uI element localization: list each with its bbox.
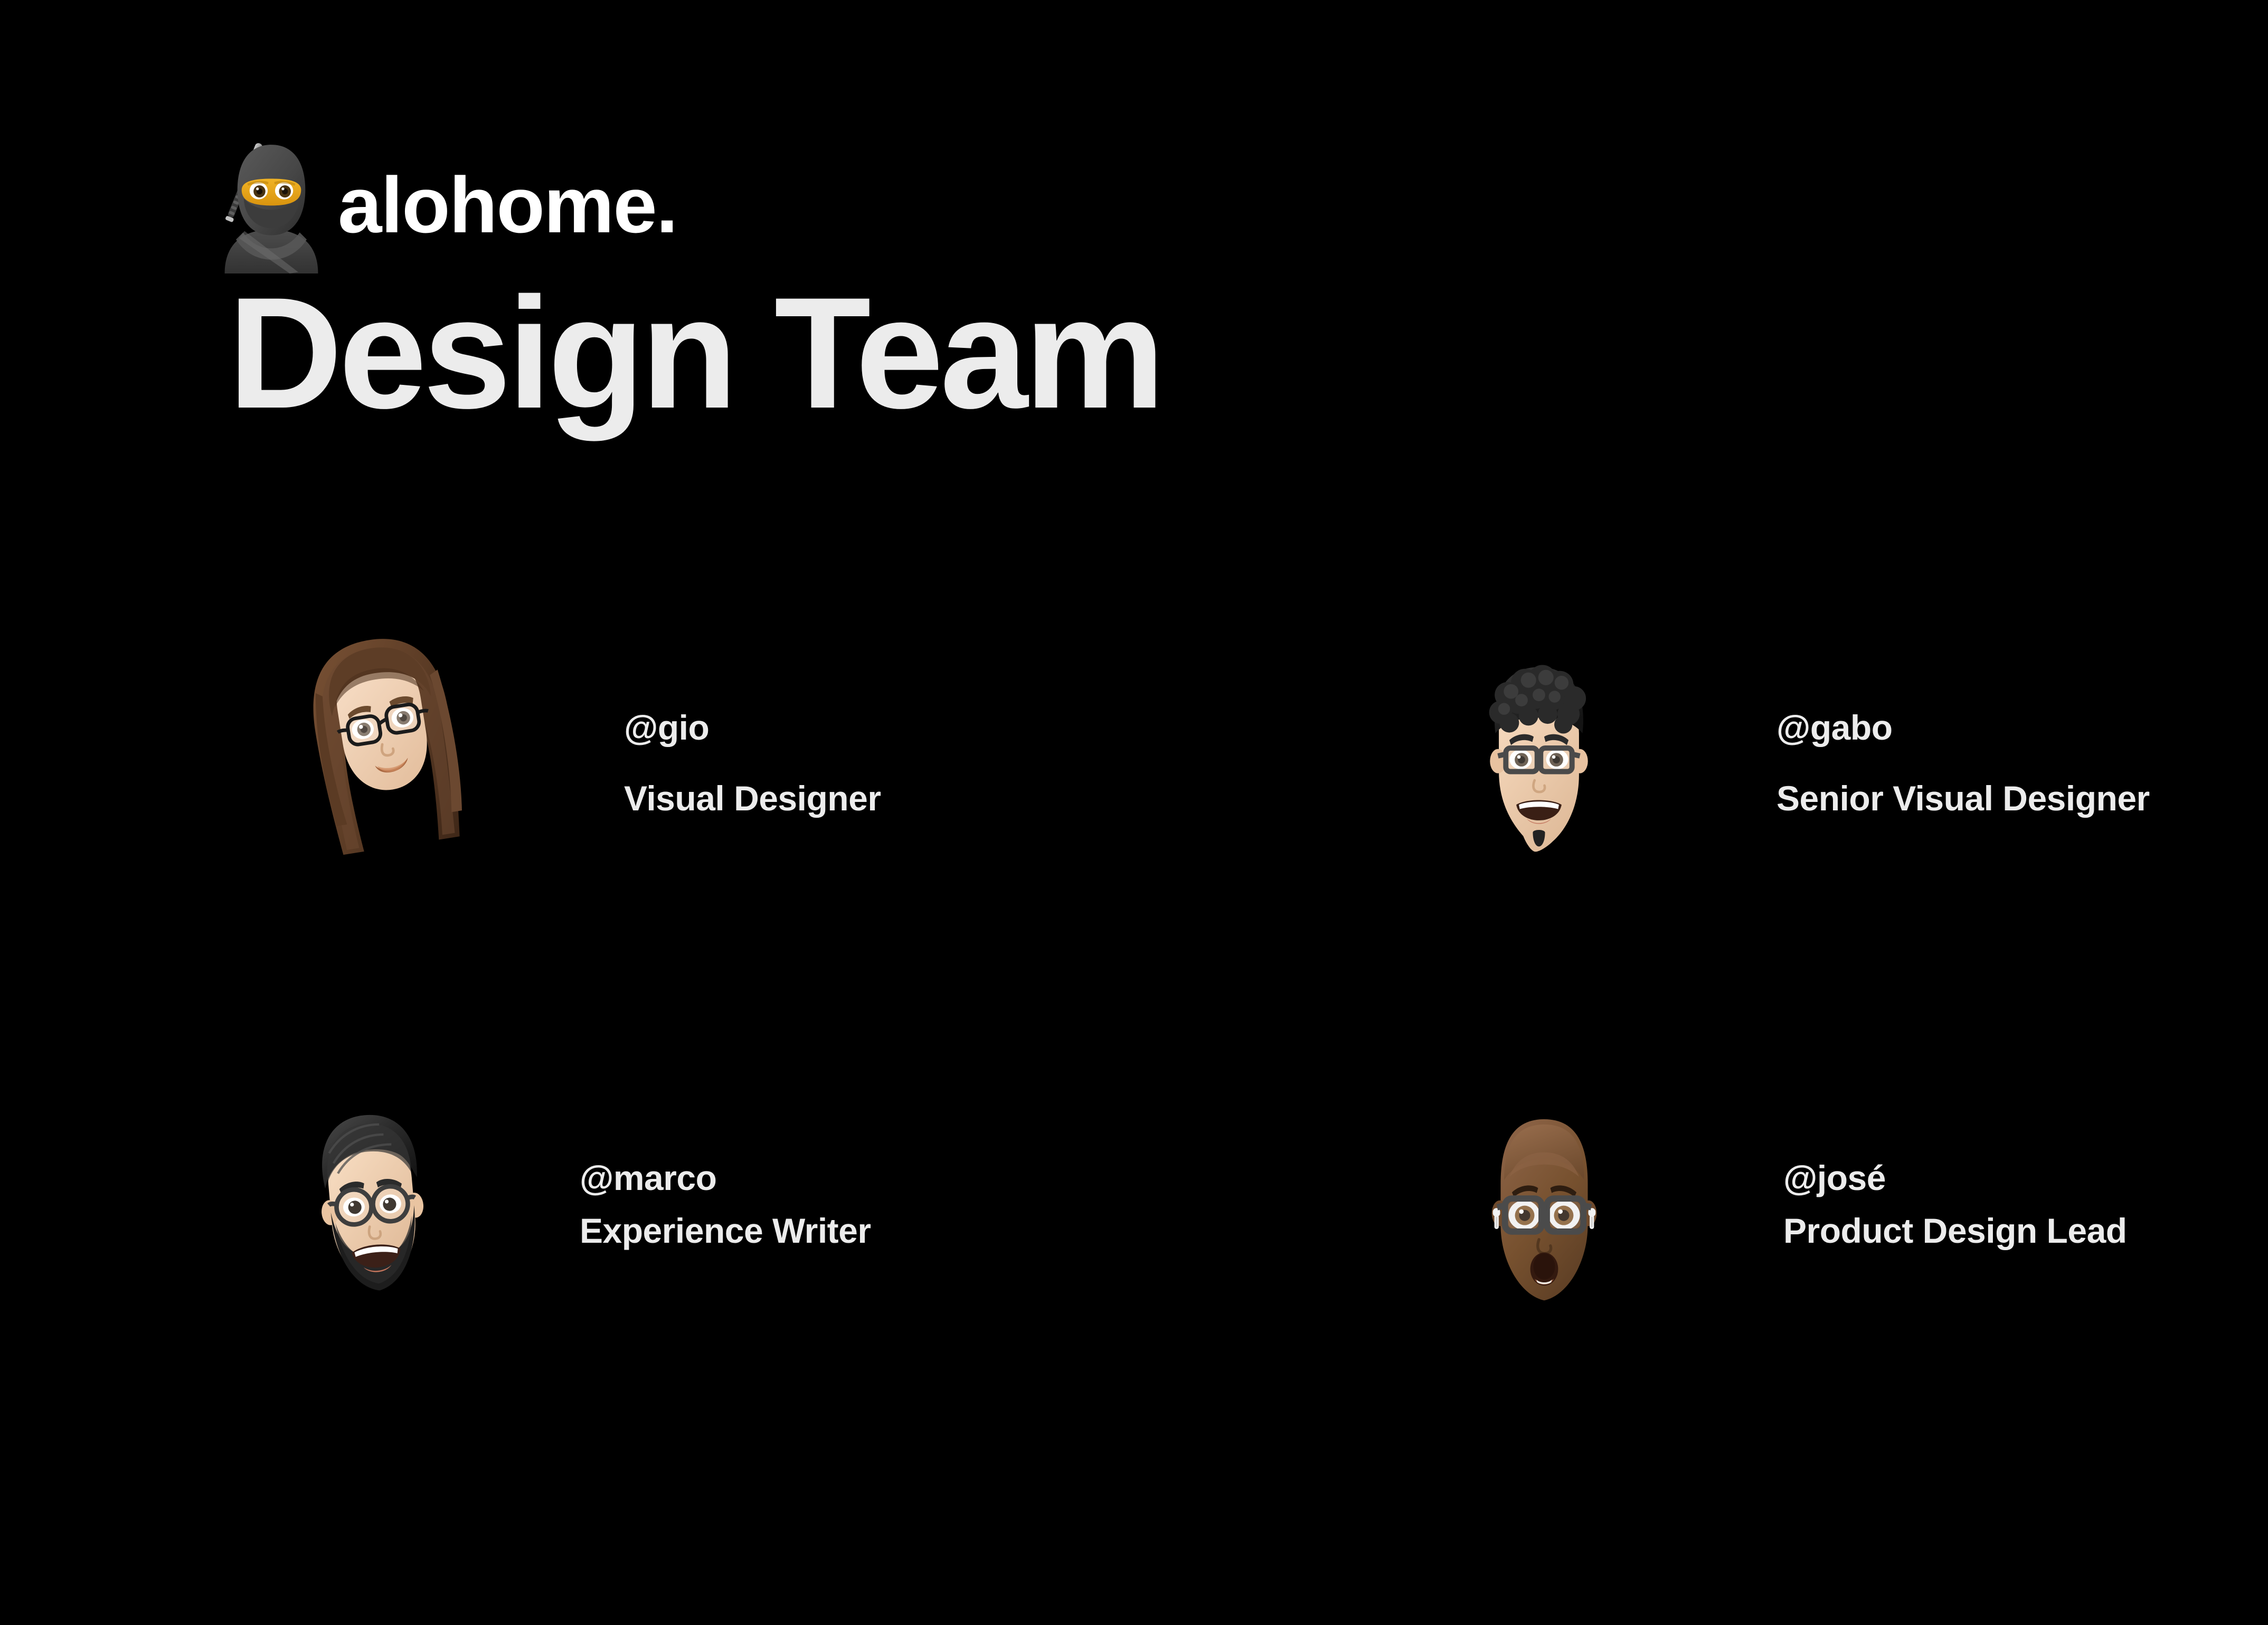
member-role: Visual Designer (624, 781, 881, 816)
team-member-card[interactable]: @gabo Senior Visual Designer (1420, 628, 2268, 1098)
member-text: @gabo Senior Visual Designer (1776, 628, 2150, 816)
member-role: Senior Visual Designer (1776, 781, 2150, 816)
slide-root: alohome. Design Team (0, 0, 2268, 1625)
memoji-man-dark-hair-round-glasses-beard-icon (285, 1098, 459, 1309)
member-text: @gio Visual Designer (624, 628, 881, 816)
spacer (580, 1195, 871, 1213)
member-role: Product Design Lead (1783, 1213, 2127, 1248)
page-title: Design Team (228, 273, 1161, 432)
team-member-card[interactable]: @marco Experience Writer (264, 1098, 1420, 1341)
memoji-woman-long-brown-hair-glasses-icon (280, 628, 491, 855)
spacer (1776, 745, 2150, 781)
member-text: @josé Product Design Lead (1783, 1098, 2127, 1248)
team-grid: @gio Visual Designer (0, 628, 2268, 1341)
spacer (1783, 1195, 2127, 1213)
member-handle: @josé (1783, 1160, 2127, 1195)
member-role: Experience Writer (580, 1213, 871, 1248)
spacer (624, 745, 881, 781)
brand-name: alohome. (338, 165, 677, 244)
member-text: @marco Experience Writer (580, 1098, 871, 1248)
team-member-card[interactable]: @gio Visual Designer (264, 628, 1420, 1098)
member-handle: @marco (580, 1160, 871, 1195)
ninja-emoji-icon (201, 132, 342, 273)
member-handle: @gio (624, 710, 881, 745)
team-member-card[interactable]: @josé Product Design Lead (1420, 1098, 2268, 1341)
memoji-bald-man-glasses-airpods-icon (1457, 1101, 1631, 1312)
brand-logo: alohome. (201, 127, 677, 273)
member-handle: @gabo (1776, 710, 2150, 745)
memoji-man-curly-black-hair-glasses-goatee-icon (1452, 657, 1626, 868)
